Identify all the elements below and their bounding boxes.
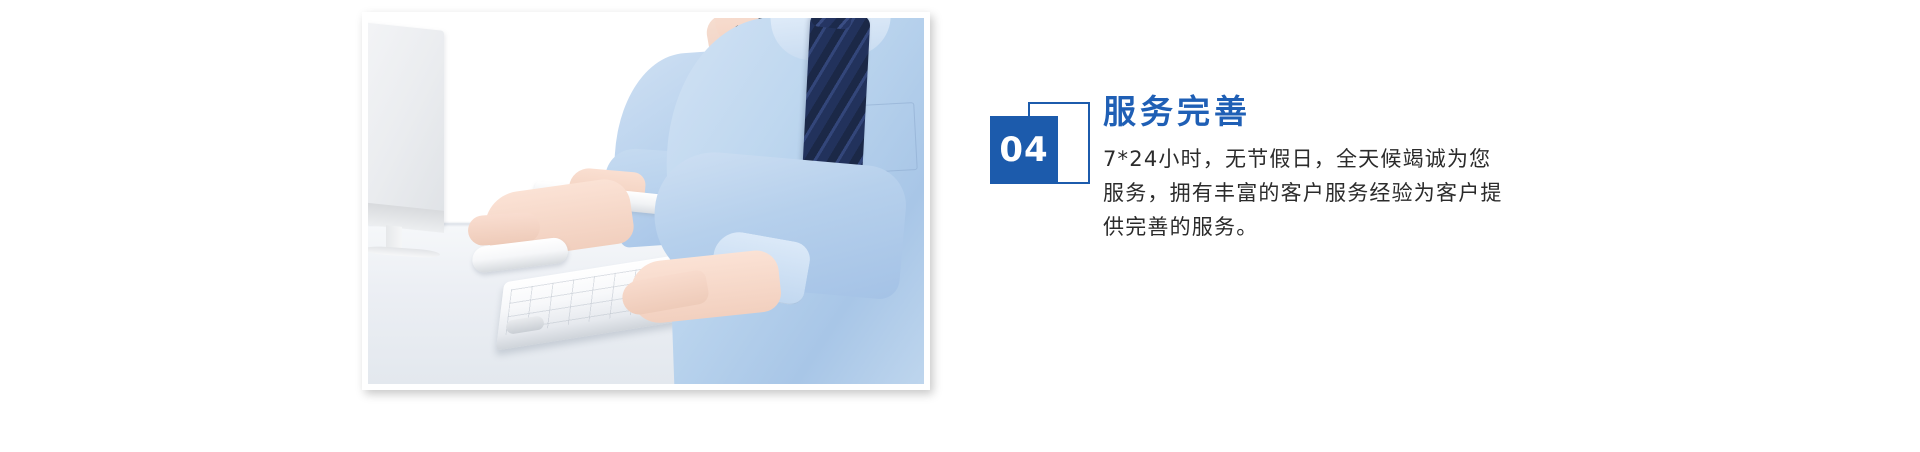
photo-card <box>362 12 930 390</box>
office-photo-scene <box>368 18 924 384</box>
photo-frame <box>368 18 924 384</box>
service-feature-section: 04 服务完善 7*24小时，无节假日，全天候竭诚为您服务，拥有丰富的客户服务经… <box>0 0 1920 452</box>
badge-number-label: 04 <box>999 133 1048 167</box>
feature-text-column: 服务完善 7*24小时，无节假日，全天候竭诚为您服务，拥有丰富的客户服务经验为客… <box>1103 92 1603 244</box>
monitor-screen <box>368 21 444 227</box>
feature-description: 7*24小时，无节假日，全天候竭诚为您服务，拥有丰富的客户服务经验为客户提供完善… <box>1103 142 1503 244</box>
customer-service-agent-front <box>648 18 924 384</box>
feature-title: 服务完善 <box>1103 92 1603 132</box>
step-number-badge: 04 <box>990 102 1098 198</box>
badge-filled-square: 04 <box>990 116 1058 184</box>
